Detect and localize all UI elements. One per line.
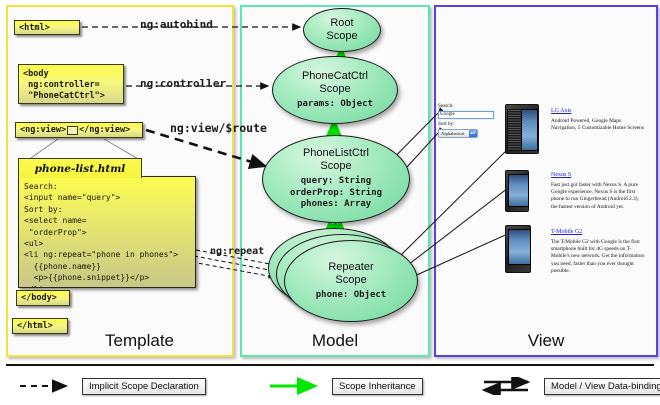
legend-item-implicit-scope-declaration: Implicit Scope Declaration — [18, 377, 206, 395]
legend-label: Scope Inheritance — [332, 378, 423, 395]
diagram-canvas: Template Model View — [0, 0, 660, 405]
panel-view-label: View — [436, 331, 656, 351]
sort-by-label: Sort by: — [438, 121, 498, 128]
legend: Implicit Scope Declaration Scope Inherit… — [0, 375, 660, 399]
panel-view: View — [434, 5, 658, 357]
panel-model-label: Model — [242, 331, 428, 351]
double-arrow-icon — [480, 377, 538, 395]
legend-item-model-view-data-binding: Model / View Data-binding — [480, 377, 660, 395]
scope-phonelistctrl-props: query: String orderProp: String phones: … — [290, 176, 382, 211]
code-box-body-tag: <body ng:controller= "PhoneCatCtrl"> — [18, 64, 124, 104]
ngview-close-tag: </ng:view> — [79, 125, 130, 136]
dashed-arrow-icon — [18, 377, 76, 395]
scope-phonelistctrl-title-2: Scope — [320, 160, 351, 172]
scope-root-title-2: Scope — [326, 30, 357, 42]
phone-list-html-note: phone-list.html Search: <input name="que… — [18, 158, 196, 288]
scope-phonelistctrl: PhoneListCtrl Scope query: String orderP… — [262, 135, 410, 223]
scope-repeater: Repeater Scope phone: Object — [284, 240, 418, 322]
code-box-html-tag: <html> — [14, 20, 80, 35]
sort-by-selected-value: Alphabetical — [441, 130, 464, 137]
legend-item-scope-inheritance: Scope Inheritance — [268, 377, 423, 395]
legend-label: Implicit Scope Declaration — [82, 378, 206, 395]
scope-repeater-props: phone: Object — [316, 290, 386, 302]
scope-phonelistctrl-title-1: PhoneListCtrl — [303, 147, 369, 159]
phone-snippet: Fast just got faster with Nexus S. A pur… — [551, 182, 645, 211]
phone-list-note-title: phone-list.html — [18, 158, 142, 178]
scope-phonecatctrl: PhoneCatCtrl Scope params: Object — [272, 56, 398, 124]
phone-device-image — [505, 225, 531, 273]
scope-phonecatctrl-props: params: Object — [297, 99, 373, 111]
scope-repeater-title-1: Repeater — [328, 261, 373, 273]
phone-snippet: Android Powered, Google Maps Navigation,… — [551, 118, 645, 132]
phone-list-item[interactable]: Nexus S Fast just got faster with Nexus … — [505, 170, 529, 212]
edge-label-ng-autobind: ng:autobind — [140, 18, 213, 31]
green-arrow-icon — [268, 377, 326, 395]
code-box-close-html-tag: </html> — [12, 318, 68, 334]
ngview-placeholder-icon — [67, 126, 78, 135]
phone-snippet: The T-Mobile G2 with Google is the first… — [551, 239, 645, 275]
phone-device-image — [505, 104, 539, 154]
scope-phonecatctrl-title-1: PhoneCatCtrl — [302, 70, 368, 82]
panel-template-label: Template — [105, 331, 232, 351]
scope-root-title-1: Root — [330, 17, 353, 29]
legend-divider — [6, 364, 654, 366]
edge-label-ng-repeat: ng:repeat — [210, 246, 264, 257]
phone-name-link[interactable]: LG Axis — [551, 108, 572, 114]
legend-label: Model / View Data-binding — [544, 378, 660, 395]
scope-repeater-title-2: Scope — [335, 274, 366, 286]
search-input[interactable] — [438, 111, 494, 119]
edge-label-ng-view-route: ng:view/$route — [170, 121, 267, 135]
phone-list-item[interactable]: T-Mobile G2 The T-Mobile G2 with Google … — [505, 225, 531, 273]
code-box-ngview-tag: <ng:view> </ng:view> — [15, 122, 143, 138]
chevron-updown-icon: ▴▾ — [469, 130, 477, 137]
phone-list-item[interactable]: LG Axis Android Powered, Google Maps Nav… — [505, 104, 539, 154]
scope-root: Root Scope — [303, 8, 381, 52]
phone-name-link[interactable]: Nexus S — [551, 172, 571, 178]
ngview-open-tag: <ng:view> — [20, 125, 66, 136]
view-search-form: Search: Sort by: Alphabetical ▴▾ — [438, 103, 498, 138]
search-label: Search: — [438, 103, 498, 110]
phone-list-note-code: Search: <input name="query"> Sort by: <s… — [18, 176, 196, 288]
code-box-close-body-tag: </body> — [16, 290, 70, 306]
edge-label-ng-controller: ng:controller — [140, 77, 226, 90]
sort-by-select[interactable]: Alphabetical ▴▾ — [438, 129, 478, 138]
scope-phonecatctrl-title-2: Scope — [319, 83, 350, 95]
phone-device-image — [505, 170, 529, 212]
phone-name-link[interactable]: T-Mobile G2 — [551, 229, 582, 235]
